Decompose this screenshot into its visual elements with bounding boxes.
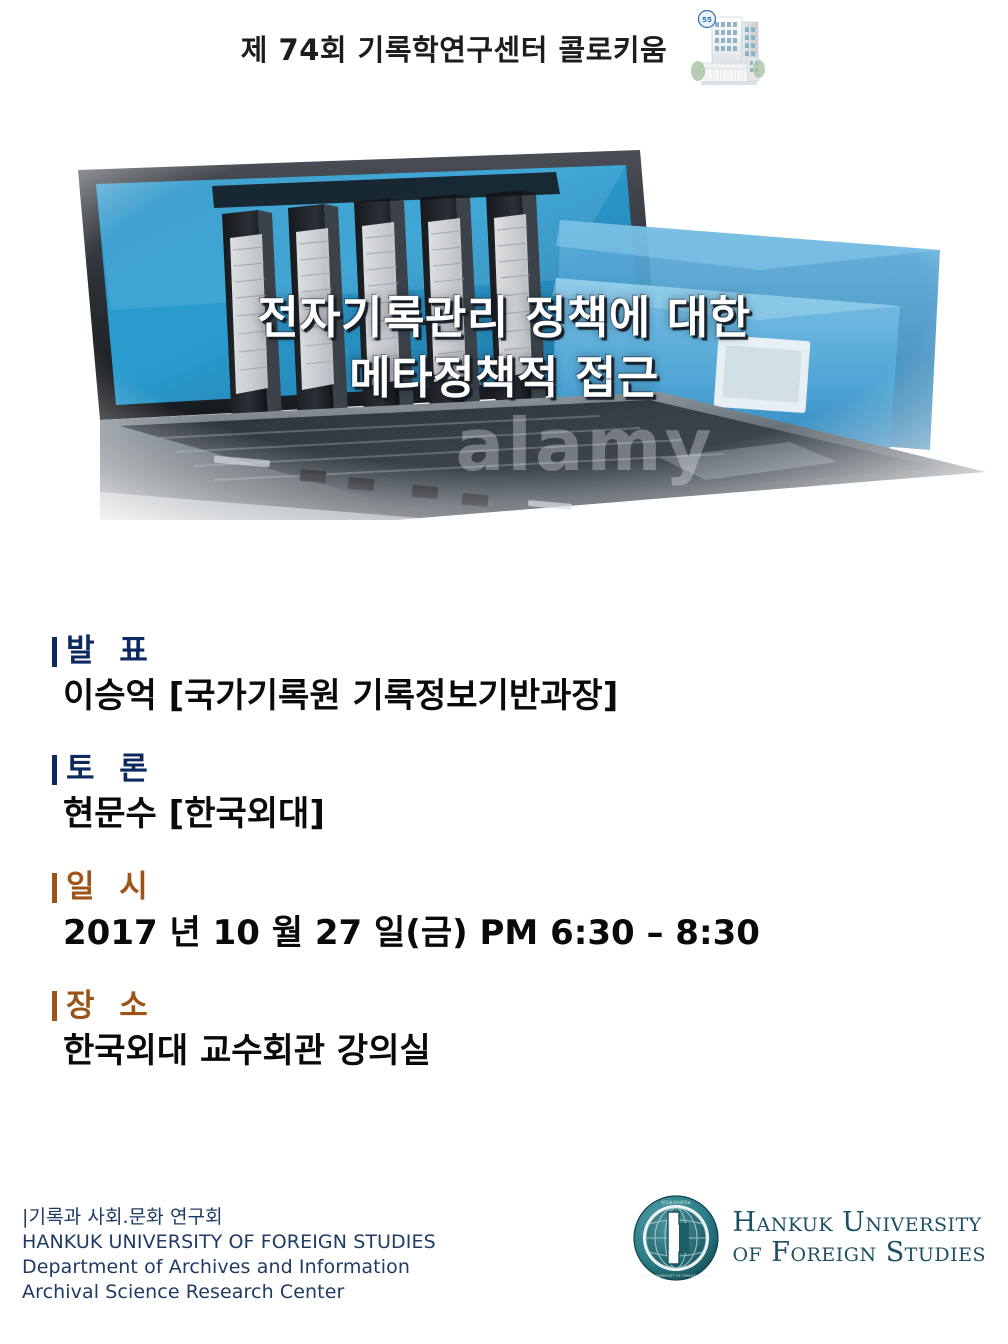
detail-label-text: 일 시 [66, 868, 155, 907]
detail-value-discussant: 현문수 [한국외대] [52, 792, 972, 836]
poster-root: 제 74회 기록학연구센터 콜로키움 [0, 0, 1008, 1344]
detail-value-datetime: 2017 년 10 월 27 일(금) PM 6:30 – 8:30 [52, 911, 972, 955]
detail-value-venue: 한국외대 교수회관 강의실 [52, 1029, 972, 1073]
detail-label-text: 토 론 [66, 750, 155, 789]
detail-label-discussant: 토 론 [52, 750, 972, 789]
hufs-wordmark-line-1: Hankuk University [732, 1208, 986, 1238]
laptop-with-binders-illustration: alamy [0, 120, 1008, 520]
label-bar-icon [52, 873, 57, 903]
svg-text:HANKUK UNIVERSITY OF FOREIGN S: HANKUK UNIVERSITY OF FOREIGN STUDIES [640, 1274, 713, 1278]
details-section: 발 표 이승억 [국가기록원 기록정보기반과장] 토 론 현문수 [한국외대] … [52, 632, 972, 1073]
hufs-crest-icon: 한국외국어대학교 HANKUK UNIVERSITY OF FOREIGN ST… [632, 1194, 720, 1282]
poster-footer: |기록과 사회.문화 연구회 HANKUK UNIVERSITY OF FORE… [0, 1199, 1008, 1344]
footer-line-3: Department of Archives and Information [22, 1255, 436, 1280]
footer-line-4: Archival Science Research Center [22, 1280, 436, 1305]
hufs-logo: 한국외국어대학교 HANKUK UNIVERSITY OF FOREIGN ST… [632, 1194, 986, 1282]
hufs-wordmark: Hankuk University of Foreign Studies [732, 1208, 986, 1268]
footer-line-2: HANKUK UNIVERSITY OF FOREIGN STUDIES [22, 1230, 436, 1255]
label-bar-icon [52, 991, 57, 1021]
detail-label-presenter: 발 표 [52, 632, 972, 671]
detail-value-presenter: 이승억 [국가기록원 기록정보기반과장] [52, 674, 972, 718]
detail-block-discussant: 토 론 현문수 [한국외대] [52, 750, 972, 836]
svg-text:한국외국어대학교: 한국외국어대학교 [662, 1199, 692, 1205]
footer-line-1: |기록과 사회.문화 연구회 [22, 1205, 436, 1230]
colloquium-header-title: 제 74회 기록학연구센터 콜로키움 [241, 27, 668, 69]
svg-text:55: 55 [702, 16, 712, 24]
detail-block-datetime: 일 시 2017 년 10 월 27 일(금) PM 6:30 – 8:30 [52, 868, 972, 954]
footer-organization-text: |기록과 사회.문화 연구회 HANKUK UNIVERSITY OF FORE… [22, 1205, 436, 1305]
university-building-icon: 55 [689, 9, 767, 87]
detail-label-datetime: 일 시 [52, 868, 972, 907]
hufs-wordmark-line-2: of Foreign Studies [732, 1238, 986, 1268]
label-bar-icon [52, 755, 57, 785]
detail-block-venue: 장 소 한국외대 교수회관 강의실 [52, 987, 972, 1073]
detail-block-presenter: 발 표 이승억 [국가기록원 기록정보기반과장] [52, 632, 972, 718]
detail-label-text: 발 표 [66, 632, 155, 671]
label-bar-icon [52, 637, 57, 667]
hero-image: alamy 전자기록관리 정책에 대한 메타정책적 접근 [0, 120, 1008, 520]
poster-header: 제 74회 기록학연구센터 콜로키움 [0, 0, 1008, 95]
detail-label-text: 장 소 [66, 987, 155, 1026]
detail-label-venue: 장 소 [52, 987, 972, 1026]
